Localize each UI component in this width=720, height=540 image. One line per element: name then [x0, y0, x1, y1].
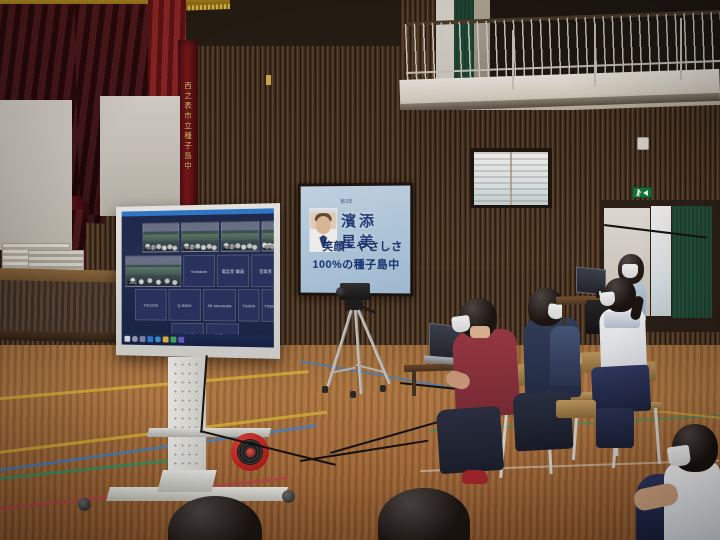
- banner-char-4: 立: [184, 122, 192, 130]
- left-wall-plaster: [0, 100, 72, 250]
- banner-char-6: 子: [184, 142, 192, 150]
- tile-label: 2年2組: [184, 246, 194, 250]
- left-wall-plaster-upper: [100, 96, 180, 216]
- window-titlebar: [122, 208, 274, 216]
- grid-tile[interactable]: 1年1組: [143, 222, 180, 252]
- grid-tile[interactable]: JB tukumata: [203, 289, 236, 321]
- banner-char-8: 中: [184, 162, 192, 170]
- tile-label: 音楽室: [252, 268, 274, 274]
- grid-tile[interactable]: 3年1組: [221, 221, 260, 252]
- emergency-exit-sign: [632, 187, 652, 198]
- tile-label: TSC002: [136, 302, 166, 307]
- store-icon[interactable]: [171, 337, 176, 343]
- portrait-face: [316, 216, 331, 234]
- person-maroon-shoe: [462, 470, 488, 484]
- tile-label: TS004: [263, 303, 274, 308]
- grid-tile[interactable]: TS004: [261, 289, 273, 322]
- tripod-foot-center: [350, 391, 356, 398]
- tile-label: 3年1組: [224, 246, 234, 250]
- monitor-screen[interactable]: 1年1組 2年2組 3年1組 3年3組 2年1組: [122, 208, 274, 347]
- face-mask: [622, 264, 638, 278]
- exit-arrow-icon: [643, 190, 648, 196]
- grid-tile[interactable]: TSC002: [135, 289, 167, 321]
- chair-back: [556, 400, 596, 418]
- slide-slogan-line2: 100%の種子島中: [312, 256, 399, 272]
- gymnasium-assembly-photo: 西 之 表 市 立 種 子 島 中 1年1組: [0, 0, 720, 540]
- doorway-daylight: [651, 206, 671, 316]
- tripod-foot-right: [380, 385, 386, 392]
- school-banner: 西 之 表 市 立 種 子 島 中: [178, 40, 198, 230]
- grid-tile[interactable]: Yukidam: [183, 255, 215, 287]
- display-monitor[interactable]: 1年1組 2年2組 3年1組 3年3組 2年1組: [116, 203, 280, 359]
- tile-label: 電話室 職員: [218, 268, 248, 274]
- operator-table-leg: [412, 370, 416, 396]
- tile-label: JB tukumata: [204, 303, 235, 308]
- banner-char-5: 種: [184, 132, 192, 140]
- banner-char-1: 之: [184, 92, 192, 100]
- cart-caster-left: [78, 498, 91, 511]
- windows-taskbar[interactable]: [122, 333, 274, 348]
- grid-tile[interactable]: 2年2組: [181, 222, 219, 253]
- video-grid: 1年1組 2年2組 3年1組 3年3組 2年1組: [125, 217, 269, 329]
- wall-sign-small: [266, 75, 271, 85]
- explorer-icon[interactable]: [163, 337, 168, 343]
- grid-tile[interactable]: 2年1組: [125, 255, 181, 287]
- tile-label: Q-B501: [170, 302, 200, 307]
- student-sailor-legs: [596, 408, 634, 448]
- running-man-icon: [636, 189, 641, 197]
- green-net-curtain-door: [672, 206, 712, 318]
- wall-control-box: [637, 137, 649, 150]
- person-maroon-trousers: [436, 406, 504, 474]
- person-maroon-neck: [470, 326, 490, 338]
- stage-front-face: [0, 280, 126, 335]
- start-icon[interactable]: [125, 336, 130, 341]
- chat-icon[interactable]: [178, 337, 183, 343]
- mail-icon[interactable]: [147, 336, 152, 342]
- cable-reel-hub: [246, 448, 255, 457]
- banner-char-2: 表: [184, 102, 192, 110]
- cart-caster-right: [282, 490, 295, 503]
- grid-tile[interactable]: Q-B501: [169, 289, 201, 321]
- balcony-post-3: [680, 18, 682, 80]
- tile-label: 1年1組: [145, 246, 155, 250]
- student-sailor-skirt: [591, 365, 651, 414]
- banner-char-3: 市: [184, 112, 192, 120]
- tripod-foot-left: [322, 386, 328, 393]
- cart-base-spine: [157, 470, 216, 492]
- grid-tile[interactable]: 音楽室: [251, 254, 274, 287]
- search-icon[interactable]: [132, 336, 137, 341]
- balcony-post-2: [594, 24, 596, 86]
- grid-tile[interactable]: 3年3組: [261, 220, 273, 251]
- tile-label: TS009: [239, 303, 258, 308]
- person-backleft-torso: [550, 326, 580, 386]
- balcony-post-1: [512, 30, 514, 90]
- slide-slogan-line1: 笑顔・やさしさ: [322, 238, 402, 254]
- window-blind-lines: [474, 152, 548, 205]
- banner-char-0: 西: [184, 82, 192, 90]
- tile-label: 2年1組: [128, 281, 138, 285]
- face-mask: [667, 445, 692, 468]
- cart-perforations: [172, 360, 202, 482]
- browser-icon[interactable]: [155, 337, 160, 343]
- banner-char-7: 島: [184, 152, 192, 160]
- camera-lens: [336, 287, 346, 297]
- tile-label: Yukidam: [184, 269, 214, 274]
- slide-grade-label: 第3年: [340, 198, 353, 205]
- projected-slide: 第3年 濱添 星美 笑顔・やさしさ 100%の種子島中: [301, 186, 411, 294]
- grid-tile[interactable]: 電話室 職員: [217, 255, 249, 288]
- tile-label: 3年3組: [265, 245, 274, 249]
- grid-tile[interactable]: TS009: [238, 289, 259, 322]
- task-view-icon[interactable]: [140, 336, 145, 342]
- projection-screen: 第3年 濱添 星美 笑顔・やさしさ 100%の種子島中: [298, 182, 414, 296]
